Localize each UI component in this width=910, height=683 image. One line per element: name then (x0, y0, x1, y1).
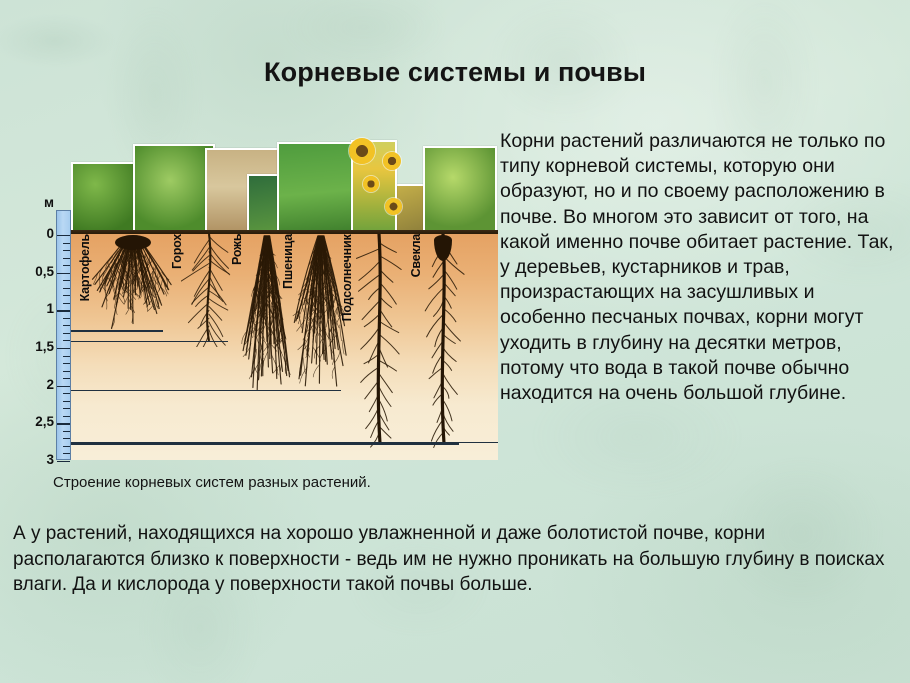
scale-label-1-5: 1,5 (28, 340, 54, 354)
scale-label-0-5: 0,5 (28, 265, 54, 279)
root-label-0: Картофель (78, 234, 92, 328)
depth-indicator-line (71, 390, 341, 391)
ruler-tick (57, 273, 70, 274)
sunflower-head-icon (363, 176, 379, 192)
ruler-tick (57, 348, 70, 349)
ruler-tick (57, 386, 70, 387)
ruler-tick (63, 340, 70, 341)
ruler-tick (63, 408, 70, 409)
ruler-tick (63, 258, 70, 259)
ruler-tick (63, 431, 70, 432)
plant-photo-strip (71, 124, 498, 234)
figure-caption: Строение корневых систем разных растений… (53, 474, 371, 491)
root-label-3: Пшеница (281, 234, 295, 388)
ruler-tick (63, 446, 70, 447)
depth-scale-labels: м00,511,522,53 (26, 124, 54, 466)
slide-canvas: Корневые системы и почвы Корни растений … (0, 0, 910, 683)
depth-indicator-line (71, 330, 163, 331)
right-body-paragraph: Корни растений различаются не только по … (500, 129, 902, 406)
depth-indicator-line (71, 341, 228, 342)
pea-plant-photo (133, 144, 215, 234)
depth-ruler (56, 210, 71, 460)
depth-indicator-line (71, 443, 459, 444)
sunflower-head-icon (349, 138, 375, 164)
beet-leaves-photo (423, 146, 497, 234)
root-label-5: Свекла (409, 234, 423, 441)
page-title: Корневые системы и почвы (0, 57, 910, 88)
root-system (420, 234, 466, 454)
root-label-4: Подсолнечник (340, 234, 354, 441)
ruler-tick (63, 243, 70, 244)
root-system (89, 234, 177, 341)
ruler-tick (63, 303, 70, 304)
root-system (351, 234, 407, 454)
ruler-tick (63, 356, 70, 357)
ruler-tick (63, 295, 70, 296)
ruler-tick (63, 371, 70, 372)
scale-label-2: 2 (28, 378, 54, 392)
soil-base-line (71, 442, 498, 443)
sunflower-head-icon (383, 152, 401, 170)
sunflower-head-icon (385, 198, 402, 215)
ruler-tick (63, 453, 70, 454)
ruler-tick (63, 438, 70, 439)
ruler-tick (63, 378, 70, 379)
scale-label-1: 1 (28, 302, 54, 316)
ruler-tick (63, 265, 70, 266)
bottom-body-paragraph: А у растений, находящихся на хорошо увла… (13, 521, 898, 598)
ruler-tick (63, 288, 70, 289)
soil-profile: КартофельГорохРожьПшеницаПодсолнечникСве… (71, 234, 498, 460)
scale-label-3: 3 (28, 453, 54, 467)
scale-unit-label: м (28, 196, 54, 210)
ruler-tick (63, 393, 70, 394)
ruler-tick (63, 416, 70, 417)
root-label-1: Горох (170, 234, 184, 339)
root-systems-figure: м00,511,522,53 КартофельГорохРожьПшеница… (26, 124, 498, 466)
ruler-tick (63, 333, 70, 334)
root-label-2: Рожь (230, 234, 244, 388)
scale-label-0: 0 (28, 227, 54, 241)
ruler-tick (63, 401, 70, 402)
ruler-tick (57, 461, 70, 462)
ruler-tick (63, 325, 70, 326)
potato-tuber (115, 235, 151, 250)
ruler-tick (57, 310, 70, 311)
ruler-tick (57, 235, 70, 236)
root-system (181, 234, 237, 352)
ruler-tick (63, 280, 70, 281)
ruler-tick (63, 318, 70, 319)
ruler-tick (63, 250, 70, 251)
ruler-tick (57, 423, 70, 424)
ruler-tick (63, 363, 70, 364)
scale-label-2-5: 2,5 (28, 415, 54, 429)
